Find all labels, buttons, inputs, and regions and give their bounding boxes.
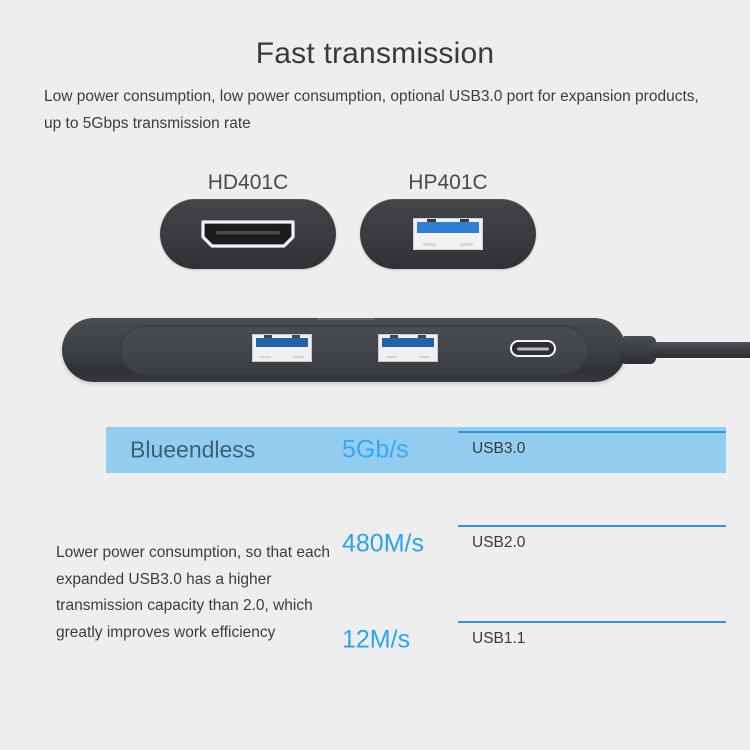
- usb-a-pin-right: [460, 243, 473, 246]
- hub-body: [62, 318, 626, 382]
- usb-a-pin-left: [260, 356, 271, 358]
- hub-top-seam: [317, 318, 375, 320]
- hub-usb-c-port: [510, 340, 556, 357]
- usb-standard-label-usb11: USB1.1: [472, 631, 525, 647]
- connector-body-hd401c: [160, 199, 336, 269]
- usb-a-pin-right: [419, 356, 430, 358]
- connector-hd401c: HD401C: [160, 172, 336, 269]
- connector-label-hp401c: HP401C: [360, 172, 536, 193]
- hub-device: [0, 316, 750, 396]
- usb-a-pin-left: [423, 243, 436, 246]
- page-subtitle: Low power consumption, low power consump…: [44, 84, 710, 137]
- usb-standard-label-usb20: USB2.0: [472, 535, 525, 551]
- usb-a-tongue: [417, 222, 479, 233]
- hub-usb-a-port-1: [252, 334, 312, 362]
- speed-value-usb11: 12M/s: [342, 628, 410, 653]
- usb-a-port-icon: [413, 218, 483, 250]
- usb-standard-rule: [458, 525, 726, 527]
- speed-value-usb20: 480M/s: [342, 532, 424, 557]
- usb-standard-usb30: USB3.0: [458, 431, 726, 469]
- usb-standard-usb11: USB1.1: [458, 621, 726, 659]
- usb-a-pin-left: [386, 356, 397, 358]
- usb-a-tongue: [256, 338, 308, 347]
- usb-standard-rule: [458, 431, 726, 433]
- usb-a-tongue: [382, 338, 434, 347]
- cable-wire: [650, 342, 750, 358]
- usb-a-pin-right: [293, 356, 304, 358]
- usb-standard-usb20: USB2.0: [458, 525, 726, 563]
- hub-usb-a-port-2: [378, 334, 438, 362]
- connector-label-hd401c: HD401C: [160, 172, 336, 193]
- header: Fast transmission Low power consumption,…: [0, 0, 750, 137]
- connector-showcase: HD401C HP401C: [0, 172, 750, 292]
- speed-row-usb30: Blueendless 5Gb/s USB3.0: [106, 427, 726, 473]
- connector-hp401c: HP401C: [360, 172, 536, 269]
- brand-name: Blueendless: [130, 439, 255, 462]
- hdmi-port-icon: [200, 219, 296, 249]
- connector-body-hp401c: [360, 199, 536, 269]
- side-note: Lower power consumption, so that each ex…: [56, 540, 336, 647]
- usb-standard-label-usb30: USB3.0: [472, 441, 525, 457]
- page-title: Fast transmission: [0, 36, 750, 72]
- speed-value-usb30: 5Gb/s: [342, 438, 409, 463]
- usb-standard-rule: [458, 621, 726, 623]
